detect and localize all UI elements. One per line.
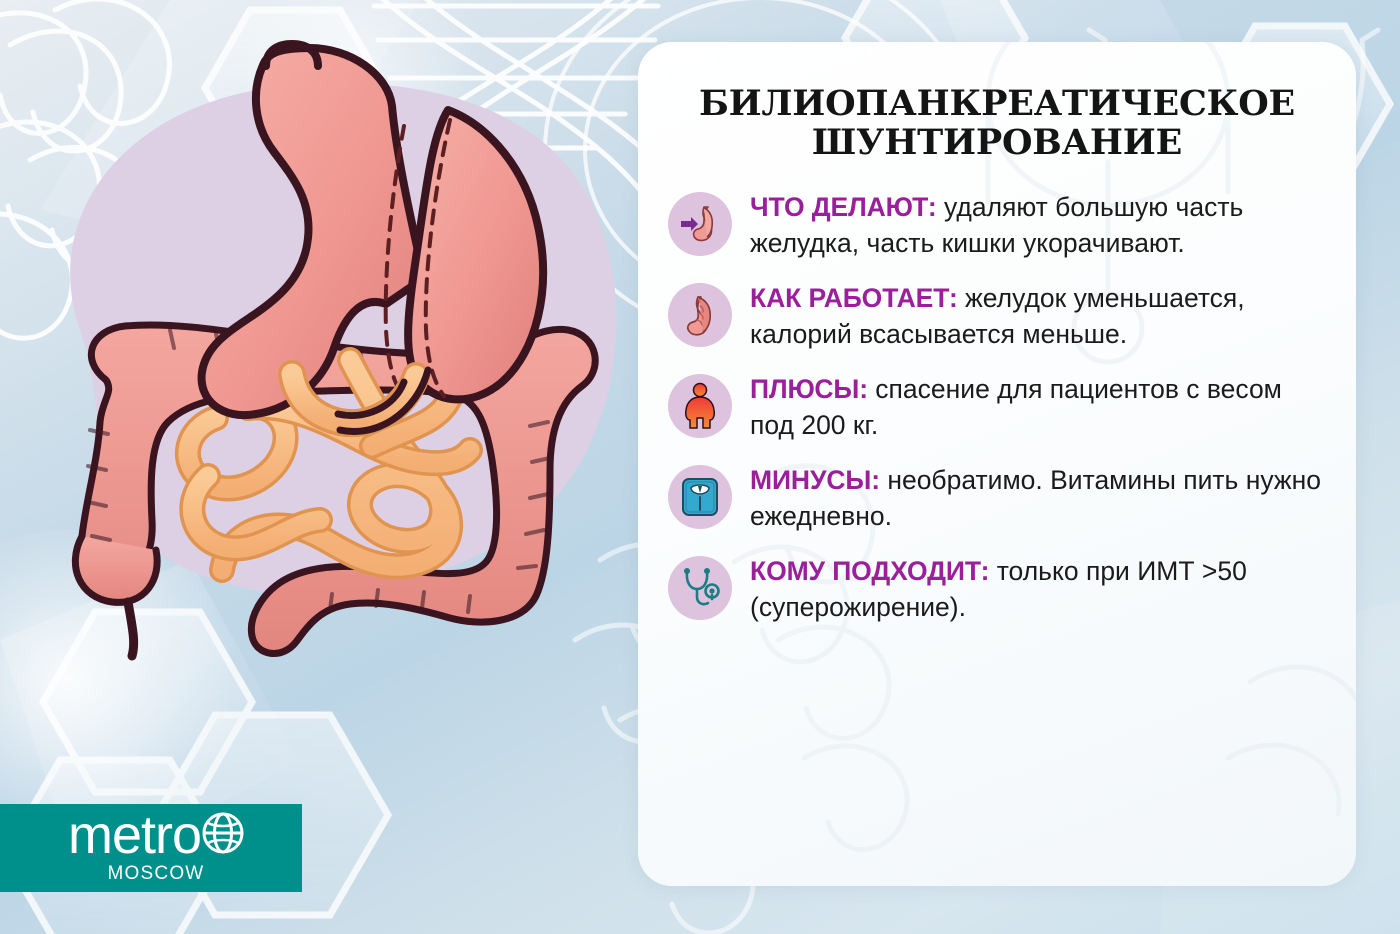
logo-wordmark-row: metro (68, 811, 244, 861)
list-item: ЧТО ДЕЛАЮТ: удаляют большую часть желудк… (668, 188, 1328, 261)
list-item-text: КАК РАБОТАЕТ: желудок уменьшается, калор… (750, 279, 1328, 352)
list-item-label: КОМУ ПОДХОДИТ: (750, 556, 989, 586)
stomach-icon (668, 283, 732, 347)
page-title: БИЛИОПАНКРЕАТИЧЕСКОЕ ШУНТИРОВАНИЕ (672, 84, 1322, 162)
list-item: МИНУСЫ: необратимо. Витамины пить нужно … (668, 461, 1328, 534)
title-line-2: ШУНТИРОВАНИЕ (812, 122, 1182, 163)
obese-person-icon (668, 374, 732, 438)
appendix (128, 602, 134, 656)
list-item-text: КОМУ ПОДХОДИТ: только при ИМТ >50 (супер… (750, 552, 1328, 625)
facts-list: ЧТО ДЕЛАЮТ: удаляют большую часть желудк… (668, 188, 1328, 625)
list-item-label: КАК РАБОТАЕТ: (750, 283, 958, 313)
list-item: ПЛЮСЫ: спасение для пациентов с весом по… (668, 370, 1328, 443)
list-item: КАК РАБОТАЕТ: желудок уменьшается, калор… (668, 279, 1328, 352)
digestive-system-illustration (0, 0, 640, 934)
list-item: КОМУ ПОДХОДИТ: только при ИМТ >50 (супер… (668, 552, 1328, 625)
content-card: БИЛИОПАНКРЕАТИЧЕСКОЕ ШУНТИРОВАНИЕ ЧТО ДЕ… (638, 42, 1356, 886)
logo-wordmark: metro (68, 811, 201, 861)
digestive-organs-svg (20, 30, 640, 670)
list-item-text: ПЛЮСЫ: спасение для пациентов с весом по… (750, 370, 1328, 443)
list-item-label: МИНУСЫ: (750, 465, 880, 495)
title-line-1: БИЛИОПАНКРЕАТИЧЕСКОЕ (699, 83, 1295, 124)
logo-city-name: MOSCOW (108, 863, 205, 885)
list-item-text: МИНУСЫ: необратимо. Витамины пить нужно … (750, 461, 1328, 534)
stethoscope-icon (668, 556, 732, 620)
metro-moscow-logo: metro MOSCOW (0, 804, 302, 892)
infographic-poster: БИЛИОПАНКРЕАТИЧЕСКОЕ ШУНТИРОВАНИЕ ЧТО ДЕ… (0, 0, 1400, 934)
list-item-text: ЧТО ДЕЛАЮТ: удаляют большую часть желудк… (750, 188, 1328, 261)
list-item-label: ПЛЮСЫ: (750, 374, 868, 404)
globe-icon (202, 812, 244, 859)
list-item-label: ЧТО ДЕЛАЮТ: (750, 192, 937, 222)
stomach-arrow-icon (668, 192, 732, 256)
weight-scale-icon (668, 465, 732, 529)
